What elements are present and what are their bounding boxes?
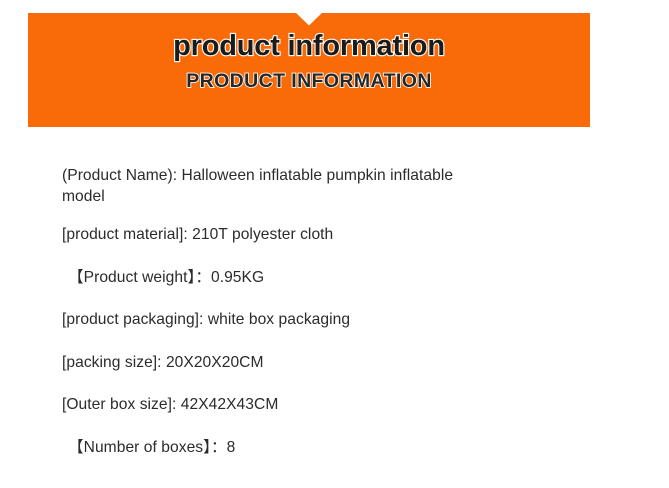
product-spec-list: (Product Name): Halloween inflatable pum…	[62, 166, 482, 459]
spec-line-packing-size: [packing size]: 20X20X20CM	[62, 353, 482, 374]
spec-line-product-weight: 【Product weight】：0.95KG	[62, 268, 482, 289]
spec-line-product-material: [product material]: 210T polyester cloth	[62, 225, 482, 246]
product-information-page: { "theme": { "banner_orange": "#f96a09",…	[0, 0, 669, 488]
spec-line-product-name: (Product Name): Halloween inflatable pum…	[62, 166, 482, 207]
spec-line-outer-box-size: [Outer box size]: 42X42X43CM	[62, 395, 482, 416]
product-information-banner: product information PRODUCT INFORMATION	[28, 13, 590, 127]
spec-line-number-of-boxes: 【Number of boxes】：8	[62, 438, 482, 459]
banner-title: product information	[173, 31, 445, 62]
spec-line-product-packaging: [product packaging]: white box packaging	[62, 310, 482, 331]
banner-subtitle: PRODUCT INFORMATION	[186, 71, 432, 92]
banner-content: product information PRODUCT INFORMATION	[28, 13, 590, 127]
